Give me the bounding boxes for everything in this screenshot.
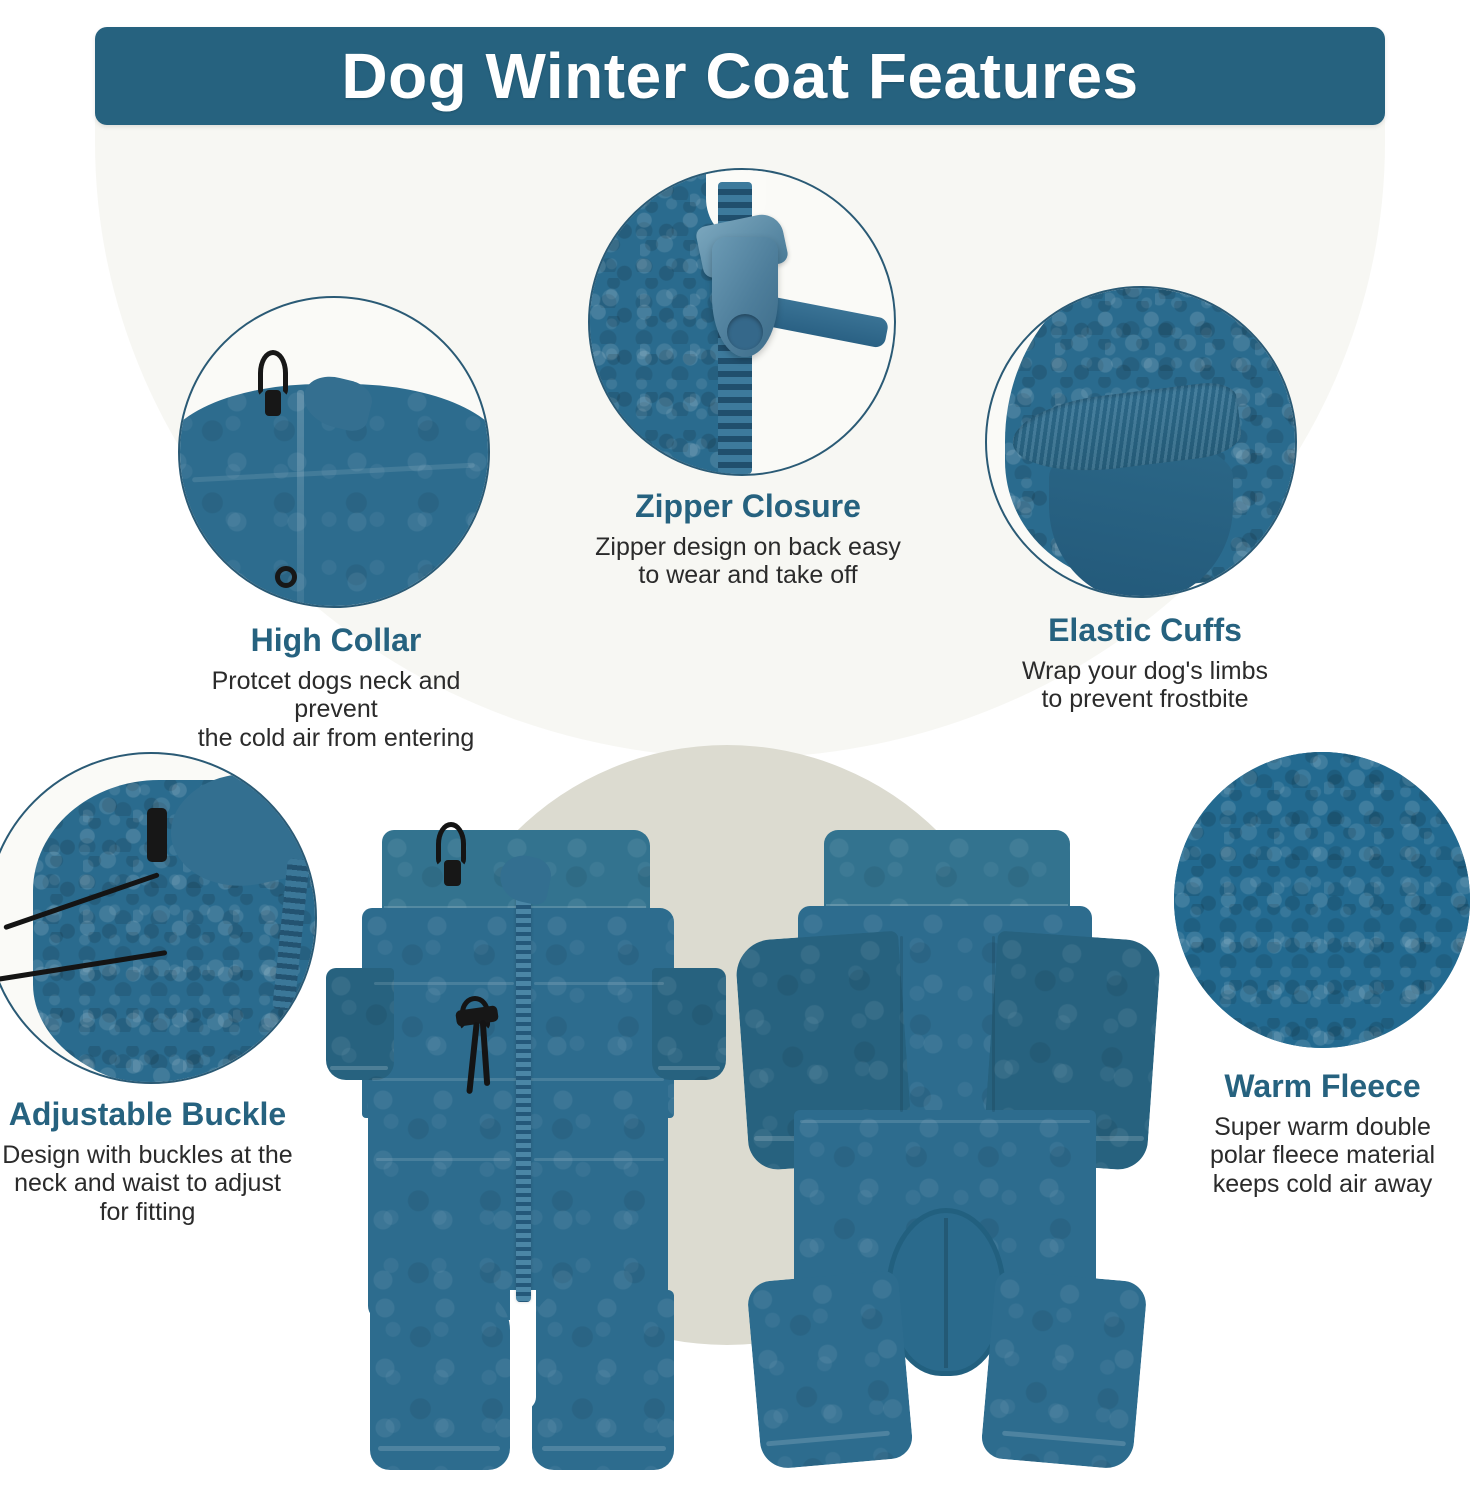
- elastic-cuffs-desc-line-2: to prevent frostbite: [985, 685, 1305, 714]
- cuff-artwork: [987, 288, 1295, 596]
- neck-cord-lock: [444, 860, 461, 886]
- adjustable-buckle-desc-line-3: for fitting: [0, 1198, 320, 1227]
- high-collar-desc-line-1: Protcet dogs neck and prevent: [178, 667, 494, 724]
- cuff-closeup-photo: [985, 286, 1297, 598]
- buckle-artwork: [0, 754, 315, 1082]
- back-seam-center-right: [992, 936, 995, 1112]
- feature-warm-fleece: Warm Fleece Super warm double polar flee…: [1170, 752, 1475, 1198]
- back-seam-center-left: [900, 936, 903, 1112]
- zipper-pull-tab: [712, 237, 778, 357]
- high-collar-title: High Collar: [178, 624, 494, 658]
- elastic-cuffs-texts: Elastic Cuffs Wrap your dog's limbs to p…: [985, 614, 1305, 714]
- collar-artwork: [180, 298, 488, 606]
- high-collar-texts: High Collar Protcet dogs neck and preven…: [178, 624, 494, 752]
- front-seam-left: [374, 982, 514, 985]
- front-left-hind-leg: [370, 1290, 510, 1470]
- warm-fleece-desc-line-1: Super warm double: [1170, 1113, 1475, 1142]
- zipper-closure-title: Zipper Closure: [588, 490, 908, 524]
- high-collar-desc-line-2: the cold air from entering: [178, 724, 494, 753]
- feature-zipper-closure: Zipper Closure Zipper design on back eas…: [588, 168, 908, 590]
- dog-coat-front-view: [320, 820, 740, 1480]
- front-leg-gap: [510, 1290, 536, 1410]
- front-right-hind-cuff: [542, 1446, 666, 1451]
- zipper-closure-desc-line-2: to wear and take off: [588, 561, 908, 590]
- dog-coat-back-view: [748, 820, 1148, 1480]
- elastic-cuffs-desc-line-1: Wrap your dog's limbs: [985, 657, 1305, 686]
- zipper-closure-texts: Zipper Closure Zipper design on back eas…: [588, 490, 908, 590]
- fleece-texture-photo: [1174, 752, 1470, 1048]
- cord-lock-toggle: [265, 390, 281, 416]
- adjustable-buckle-desc-line-1: Design with buckles at the: [0, 1141, 320, 1170]
- feature-high-collar: High Collar Protcet dogs neck and preven…: [178, 296, 494, 752]
- collar-zipper-seam: [297, 390, 304, 606]
- adjustable-buckle-title: Adjustable Buckle: [0, 1098, 320, 1132]
- warm-fleece-desc-line-2: polar fleece material: [1170, 1141, 1475, 1170]
- front-seam-lower-left: [376, 1158, 510, 1161]
- warm-fleece-texts: Warm Fleece Super warm double polar flee…: [1170, 1070, 1475, 1198]
- zipper-pull-hole: [727, 314, 763, 350]
- front-seam-lower-right: [534, 1158, 664, 1161]
- zipper-closure-desc-line-1: Zipper design on back easy: [588, 533, 908, 562]
- fleece-swatch: [1174, 752, 1470, 1048]
- zipper-artwork: [590, 170, 894, 474]
- front-center-zipper: [516, 882, 531, 1302]
- warm-fleece-title: Warm Fleece: [1170, 1070, 1475, 1104]
- cord-lock-toggle: [147, 808, 167, 862]
- feature-adjustable-buckle: Adjustable Buckle Design with buckles at…: [0, 752, 320, 1226]
- warm-fleece-desc-line-3: keeps cold air away: [1170, 1170, 1475, 1199]
- adjustable-buckle-texts: Adjustable Buckle Design with buckles at…: [0, 1098, 320, 1226]
- infographic-page: Dog Winter Coat Features High Collar Pro…: [0, 0, 1475, 1500]
- zipper-closeup-photo: [588, 168, 896, 476]
- elastic-cuffs-title: Elastic Cuffs: [985, 614, 1305, 648]
- feature-elastic-cuffs: Elastic Cuffs Wrap your dog's limbs to p…: [985, 286, 1305, 714]
- front-seam-right: [534, 982, 664, 985]
- adjustable-buckle-desc-line-2: neck and waist to adjust: [0, 1169, 320, 1198]
- page-title: Dog Winter Coat Features: [341, 44, 1138, 108]
- title-banner: Dog Winter Coat Features: [95, 27, 1385, 125]
- front-left-cuff: [330, 1066, 388, 1070]
- front-right-hind-leg: [532, 1290, 674, 1470]
- front-right-cuff: [658, 1066, 720, 1070]
- back-waist-seam: [800, 1120, 1090, 1123]
- front-left-hind-cuff: [378, 1446, 500, 1451]
- collar-closeup-photo: [178, 296, 490, 608]
- buckle-closeup-photo: [0, 752, 317, 1084]
- back-opening-center-seam: [944, 1218, 948, 1368]
- lower-cord-loop-icon: [275, 566, 297, 588]
